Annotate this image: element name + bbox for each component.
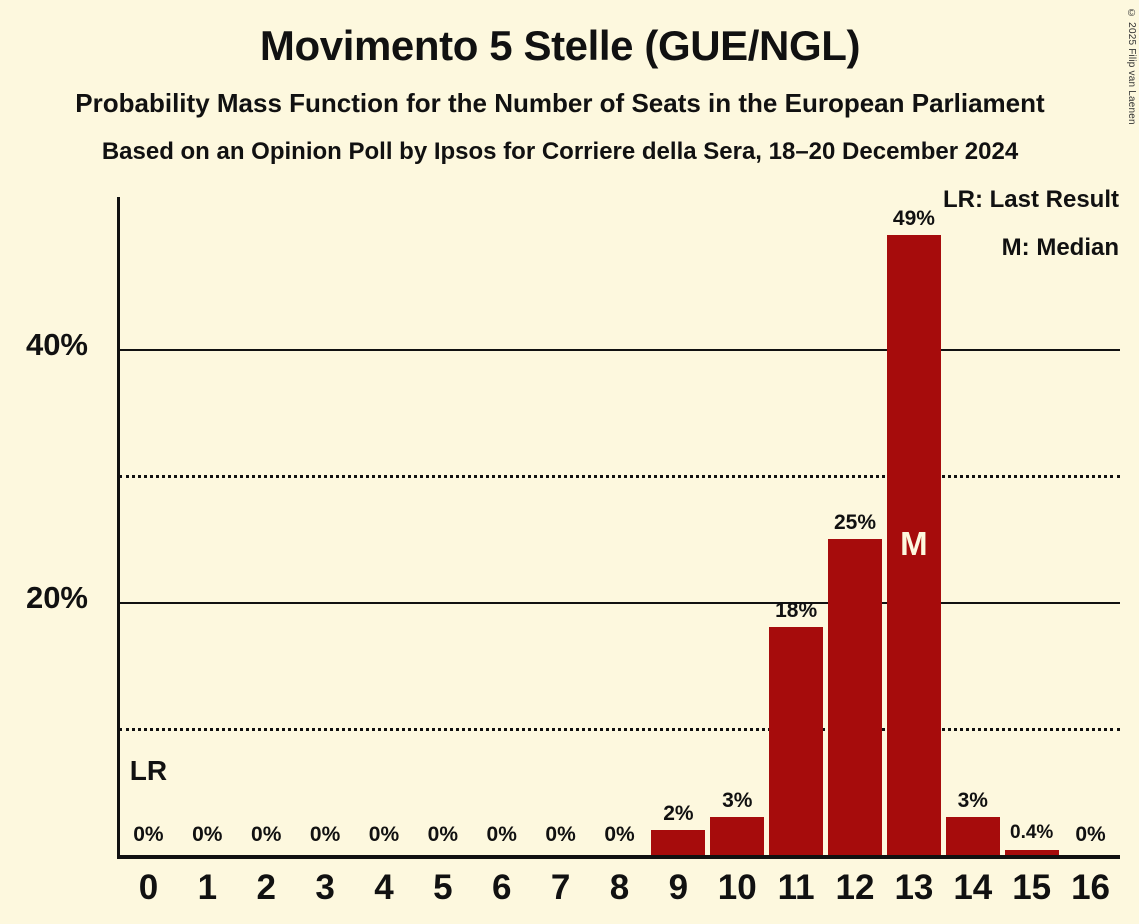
gridline-20 bbox=[119, 602, 1120, 604]
plot-area: 40%20% bbox=[119, 197, 1120, 855]
chart-title: Movimento 5 Stelle (GUE/NGL) bbox=[0, 22, 1120, 70]
bar-15[interactable] bbox=[1005, 850, 1059, 855]
bar-value-label-13: 49% bbox=[869, 207, 959, 231]
y-tick-label-20: 20% bbox=[0, 580, 88, 616]
gridline-30 bbox=[119, 475, 1120, 478]
chart-subtitle: Probability Mass Function for the Number… bbox=[0, 88, 1120, 119]
chart-source-line: Based on an Opinion Poll by Ipsos for Co… bbox=[0, 138, 1120, 166]
y-tick-label-40: 40% bbox=[0, 327, 88, 363]
bar-12[interactable] bbox=[828, 539, 882, 855]
x-axis-line bbox=[117, 855, 1120, 859]
bar-11[interactable] bbox=[769, 627, 823, 855]
bar-value-label-14: 3% bbox=[928, 789, 1018, 813]
bar-value-label-8: 0% bbox=[575, 823, 665, 847]
bar-value-label-11: 18% bbox=[751, 599, 841, 623]
median-marker: M bbox=[869, 525, 959, 563]
gridline-10 bbox=[119, 728, 1120, 731]
gridline-40 bbox=[119, 349, 1120, 351]
copyright-notice: © 2025 Filip van Laenen bbox=[1126, 8, 1137, 125]
bar-value-label-10: 3% bbox=[692, 789, 782, 813]
bar-value-label-16: 0% bbox=[1046, 823, 1136, 847]
last-result-marker: LR bbox=[103, 755, 193, 787]
chart-container: Movimento 5 Stelle (GUE/NGL) Probability… bbox=[0, 0, 1139, 924]
x-tick-label-16: 16 bbox=[1046, 868, 1136, 908]
